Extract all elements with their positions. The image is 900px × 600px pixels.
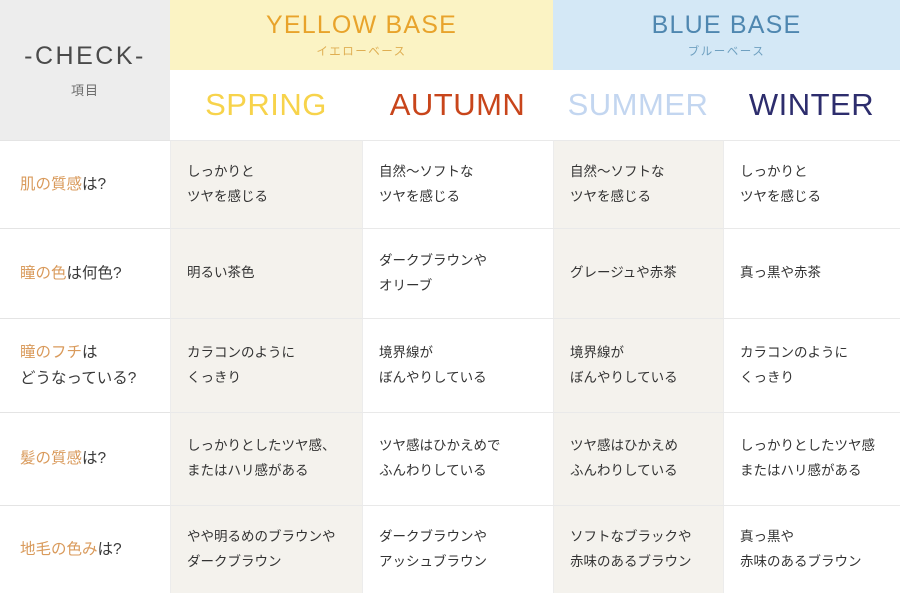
cell-spring-row2: 明るい茶色 xyxy=(170,228,362,318)
column-header-autumn: AUTUMN xyxy=(362,70,553,140)
base-yellow-label-jp: イエローベース xyxy=(316,43,406,59)
row-label-suffix: は? xyxy=(82,176,106,193)
check-header-cell: -CHECK- 項目 xyxy=(0,0,170,140)
cell-text-line1: やや明るめのブラウンや xyxy=(187,525,336,550)
cell-text-line2: オリーブ xyxy=(379,274,487,299)
cell-summer-row4: ツヤ感はひかえめふんわりしている xyxy=(553,412,723,505)
cell-winter-row2: 真っ黒や赤茶 xyxy=(723,228,900,318)
cell-text-line1: 真っ黒や赤茶 xyxy=(740,261,821,286)
check-title: -CHECK- xyxy=(24,42,146,71)
cell-text-line1: ツヤ感はひかえめ xyxy=(570,434,678,459)
cell-text-line2: 赤味のあるブラウン xyxy=(740,550,862,575)
cell-text-line1: しっかりとしたツヤ感 xyxy=(740,434,875,459)
row-label-keyword: 地毛の色み xyxy=(20,541,98,558)
cell-summer-row5: ソフトなブラックや赤味のあるブラウン xyxy=(553,505,723,593)
cell-text-line1: 境界線が xyxy=(570,341,678,366)
cell-summer-row1: 自然〜ソフトなツヤを感じる xyxy=(553,140,723,228)
row-label-suffix: は何色? xyxy=(67,265,122,282)
base-yellow-label-en: YELLOW BASE xyxy=(266,11,457,40)
personal-color-check-table: -CHECK- 項目 YELLOW BASE イエローベース BLUE BASE… xyxy=(0,0,900,600)
cell-text-line2: ツヤを感じる xyxy=(379,185,474,210)
cell-text-line2: ツヤを感じる xyxy=(187,185,268,210)
cell-text-line1: ソフトなブラックや xyxy=(570,525,692,550)
cell-text-line1: ダークブラウンや xyxy=(379,525,487,550)
cell-text-line1: グレージュや赤茶 xyxy=(570,261,677,286)
cell-spring-row5: やや明るめのブラウンやダークブラウン xyxy=(170,505,362,593)
row-label-1: 肌の質感は? xyxy=(0,140,170,228)
cell-text-line2: ふんわりしている xyxy=(379,459,501,484)
row-label-4: 髪の質感は? xyxy=(0,412,170,505)
cell-text-line1: しっかりと xyxy=(187,160,268,185)
row-label-keyword: 瞳の色 xyxy=(20,265,67,282)
cell-text-line1: 真っ黒や xyxy=(740,525,862,550)
column-header-winter: WINTER xyxy=(723,70,900,140)
cell-text-line1: しっかりとしたツヤ感、 xyxy=(187,434,336,459)
cell-autumn-row2: ダークブラウンやオリーブ xyxy=(362,228,553,318)
base-blue-label-jp: ブルーベース xyxy=(688,43,765,59)
cell-autumn-row4: ツヤ感はひかえめでふんわりしている xyxy=(362,412,553,505)
cell-spring-row3: カラコンのようにくっきり xyxy=(170,318,362,412)
cell-winter-row3: カラコンのようにくっきり xyxy=(723,318,900,412)
row-label-2: 瞳の色は何色? xyxy=(0,228,170,318)
row-label-suffix: は? xyxy=(98,541,122,558)
cell-text-line2: ぼんやりしている xyxy=(379,366,487,391)
cell-text-line1: 明るい茶色 xyxy=(187,261,255,286)
cell-summer-row2: グレージュや赤茶 xyxy=(553,228,723,318)
cell-text-line1: ツヤ感はひかえめで xyxy=(379,434,501,459)
cell-text-line2: アッシュブラウン xyxy=(379,550,487,575)
base-blue-label-en: BLUE BASE xyxy=(652,11,802,40)
cell-summer-row3: 境界線がぼんやりしている xyxy=(553,318,723,412)
cell-text-line2: ツヤを感じる xyxy=(570,185,665,210)
base-header-blue: BLUE BASE ブルーベース xyxy=(553,0,900,70)
cell-text-line1: 境界線が xyxy=(379,341,487,366)
cell-text-line2: ぼんやりしている xyxy=(570,366,678,391)
cell-text-line2: またはハリ感がある xyxy=(740,459,875,484)
row-label-5: 地毛の色みは? xyxy=(0,505,170,593)
cell-text-line1: カラコンのように xyxy=(187,341,295,366)
cell-spring-row4: しっかりとしたツヤ感、またはハリ感がある xyxy=(170,412,362,505)
cell-text-line1: 自然〜ソフトな xyxy=(379,160,474,185)
cell-winter-row1: しっかりとツヤを感じる xyxy=(723,140,900,228)
column-header-summer: SUMMER xyxy=(553,70,723,140)
cell-text-line1: ダークブラウンや xyxy=(379,249,487,274)
row-label-keyword: 髪の質感 xyxy=(20,450,82,467)
row-label-suffix: は xyxy=(82,344,98,361)
cell-autumn-row3: 境界線がぼんやりしている xyxy=(362,318,553,412)
row-label-line2: どうなっている? xyxy=(20,366,136,392)
row-label-suffix: は? xyxy=(82,450,106,467)
cell-text-line1: しっかりと xyxy=(740,160,821,185)
cell-text-line2: ふんわりしている xyxy=(570,459,678,484)
cell-text-line2: ツヤを感じる xyxy=(740,185,821,210)
check-subtitle: 項目 xyxy=(71,80,99,99)
cell-text-line2: くっきり xyxy=(740,366,848,391)
cell-text-line2: 赤味のあるブラウン xyxy=(570,550,692,575)
cell-autumn-row1: 自然〜ソフトなツヤを感じる xyxy=(362,140,553,228)
row-label-keyword: 肌の質感 xyxy=(20,176,82,193)
row-label-keyword: 瞳のフチ xyxy=(20,344,82,361)
cell-text-line1: 自然〜ソフトな xyxy=(570,160,665,185)
base-header-yellow: YELLOW BASE イエローベース xyxy=(170,0,553,70)
cell-autumn-row5: ダークブラウンやアッシュブラウン xyxy=(362,505,553,593)
row-label-3: 瞳のフチはどうなっている? xyxy=(0,318,170,412)
cell-text-line2: くっきり xyxy=(187,366,295,391)
cell-winter-row4: しっかりとしたツヤ感またはハリ感がある xyxy=(723,412,900,505)
cell-winter-row5: 真っ黒や赤味のあるブラウン xyxy=(723,505,900,593)
column-header-spring: SPRING xyxy=(170,70,362,140)
cell-text-line1: カラコンのように xyxy=(740,341,848,366)
cell-spring-row1: しっかりとツヤを感じる xyxy=(170,140,362,228)
cell-text-line2: またはハリ感がある xyxy=(187,459,336,484)
cell-text-line2: ダークブラウン xyxy=(187,550,336,575)
